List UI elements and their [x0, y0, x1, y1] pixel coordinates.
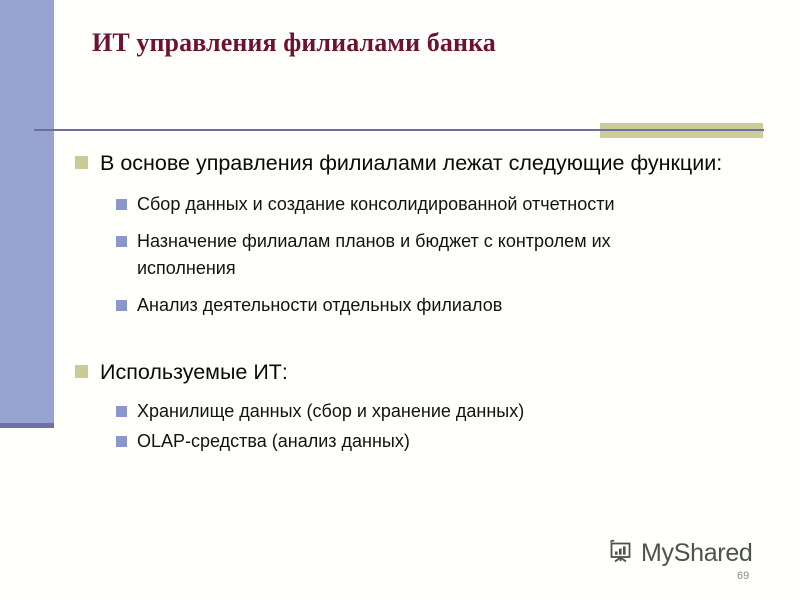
presentation-slide: ИТ управления филиалами банка В основе у… — [0, 0, 800, 600]
bullet-level2-text: OLAP-средства (анализ данных) — [137, 431, 410, 451]
myshared-watermark: MyShared — [606, 536, 753, 571]
bullet-square-icon — [116, 199, 127, 210]
bullet-square-icon — [116, 300, 127, 311]
spacer — [0, 319, 800, 357]
bullet-level2-item-1: Сбор данных и создание консолидированной… — [0, 191, 800, 218]
spacer — [0, 179, 800, 191]
slide-body: В основе управления филиалами лежат след… — [0, 148, 800, 455]
bullet-level2-item-3: Анализ деятельности отдельных филиалов — [0, 292, 800, 319]
bullet-level1-text: В основе управления филиалами лежат след… — [100, 151, 722, 175]
spacer — [0, 218, 800, 228]
bullet-square-icon — [116, 406, 127, 417]
bullet-square-icon — [116, 236, 127, 247]
bullet-level1-section1: В основе управления филиалами лежат след… — [0, 148, 800, 179]
bullet-square-icon — [75, 156, 88, 169]
bullet-level2-item-2: Назначение филиалам планов и бюджет с ко… — [0, 228, 800, 282]
spacer — [0, 388, 800, 398]
bullet-level2-text: Сбор данных и создание консолидированной… — [137, 194, 615, 214]
page-title: ИТ управления филиалами банка — [92, 28, 752, 58]
bullet-level2-item-4: Хранилище данных (сбор и хранение данных… — [0, 398, 800, 425]
bullet-level1-section2: Используемые ИТ: — [0, 357, 800, 388]
spacer — [0, 282, 800, 292]
flipchart-bar-chart-icon — [606, 536, 636, 571]
bullet-level2-text: Назначение филиалам планов и бюджет с ко… — [137, 231, 611, 278]
bullet-level2-item-5: OLAP-средства (анализ данных) — [0, 428, 800, 455]
bullet-level1-text: Используемые ИТ: — [100, 360, 288, 384]
bullet-level2-text: Хранилище данных (сбор и хранение данных… — [137, 401, 524, 421]
bullet-level2-text: Анализ деятельности отдельных филиалов — [137, 295, 502, 315]
title-divider-rule — [34, 129, 764, 131]
bullet-square-icon — [116, 436, 127, 447]
page-number: 69 — [737, 570, 749, 582]
bullet-square-icon — [75, 365, 88, 378]
watermark-label: MyShared — [641, 539, 753, 568]
